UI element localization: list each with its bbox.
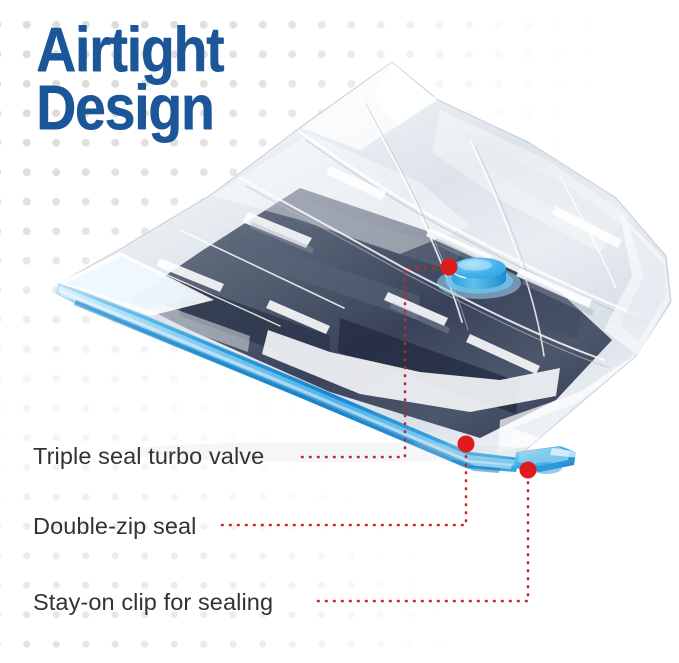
valve-cap-top — [452, 258, 506, 279]
callout-label-stay-on-clip: Stay-on clip for sealing — [33, 589, 273, 616]
leader-line-valve — [302, 268, 446, 457]
marker-valve — [441, 259, 458, 276]
turbo-valve — [437, 258, 521, 300]
zip-highlight — [58, 286, 516, 466]
marker-clip — [520, 462, 537, 479]
page-title: Airtight Design — [36, 22, 223, 138]
callout-label-double-zip-seal: Double-zip seal — [33, 513, 196, 540]
bag-contents — [100, 170, 640, 470]
callout-label-triple-seal-turbo-valve: Triple seal turbo valve — [33, 443, 264, 470]
product-feature-image: Airtight Design Triple seal turbo valve … — [0, 0, 679, 663]
stay-on-clip — [514, 446, 582, 474]
leader-line-clip — [318, 474, 528, 601]
marker-zip — [458, 436, 475, 453]
callout-markers — [441, 259, 537, 479]
